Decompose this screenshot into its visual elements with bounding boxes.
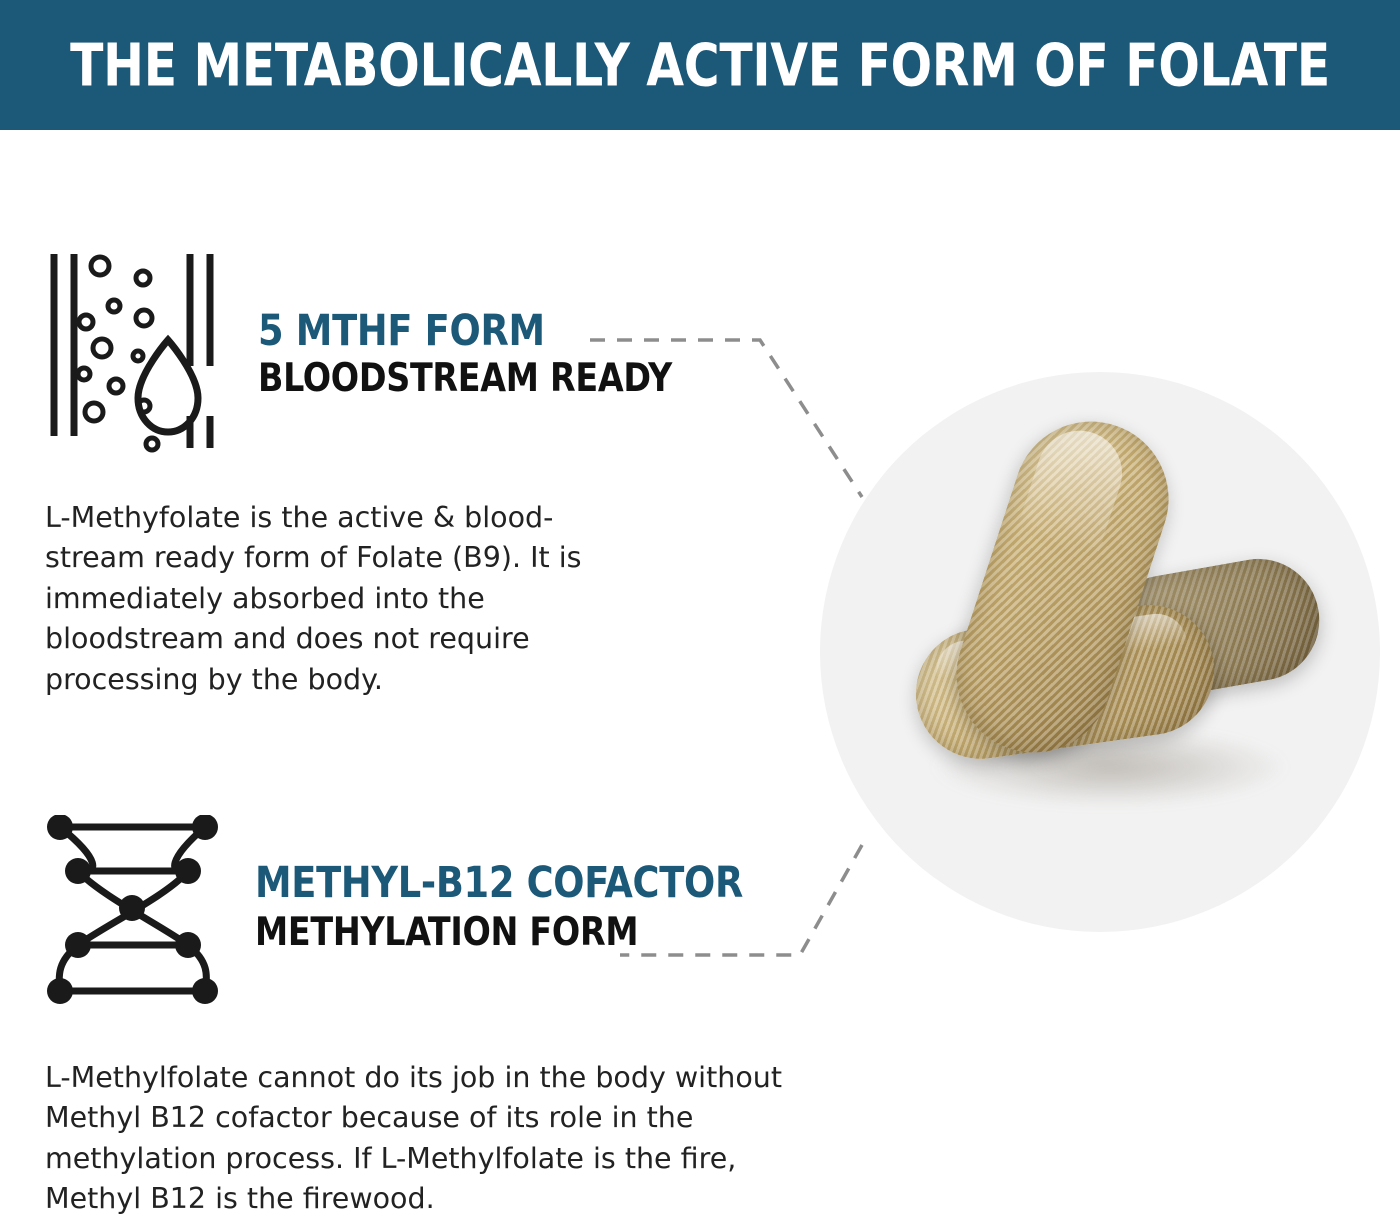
feature-2-body: L-Methylfolate cannot do its job in the … xyxy=(45,1058,790,1220)
feature-2-subtitle: METHYLATION FORM xyxy=(255,913,743,954)
feature-1-subtitle: BLOODSTREAM READY xyxy=(258,359,672,400)
product-image-circle xyxy=(820,372,1380,932)
feature-1-title: 5 MTHF FORM xyxy=(258,310,672,353)
page-title: THE METABOLICALLY ACTIVE FORM OF FOLATE xyxy=(56,31,1344,100)
feature-1-body: L-Methyfolate is the active & blood-stre… xyxy=(45,498,645,700)
feature-2-heading: METHYL-B12 COFACTOR METHYLATION FORM xyxy=(255,862,769,954)
droplet-absorption-icon xyxy=(40,248,230,458)
feature-2-title: METHYL-B12 COFACTOR xyxy=(255,862,743,905)
feature-1-heading: 5 MTHF FORM BLOODSTREAM READY xyxy=(258,310,694,400)
header-banner: THE METABOLICALLY ACTIVE FORM OF FOLATE xyxy=(0,0,1400,130)
dna-methylation-icon xyxy=(40,815,225,1020)
capsule-highlight xyxy=(989,419,1133,639)
